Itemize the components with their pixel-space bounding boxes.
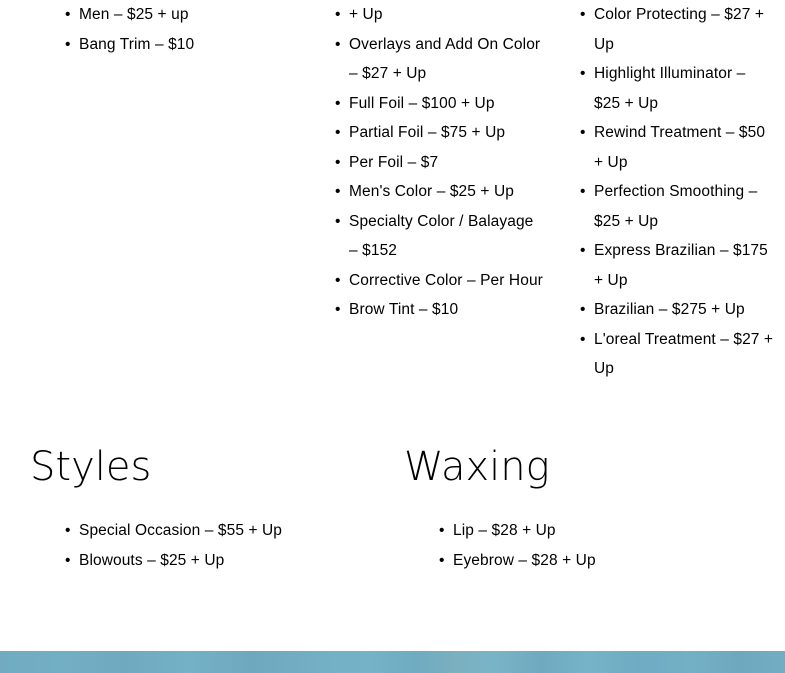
list-item: Rewind Treatment – $50 + Up	[580, 118, 775, 177]
list-item: Eyebrow – $28 + Up	[439, 546, 764, 576]
footer-decorative-band	[0, 651, 785, 673]
list-item: Specialty Color / Balayage – $152	[335, 207, 545, 266]
list-item: Blowouts – $25 + Up	[65, 546, 390, 576]
list-item: Full Foil – $100 + Up	[335, 89, 545, 119]
section-waxing: Waxing Lip – $28 + Up Eyebrow – $28 + Up	[404, 444, 764, 575]
page-root: Men – $25 + up Bang Trim – $10 + Up Over…	[0, 0, 785, 673]
service-list-right: Color Protecting – $27 + Up Highlight Il…	[545, 0, 775, 384]
styles-list: Special Occasion – $55 + Up Blowouts – $…	[30, 516, 390, 575]
list-item: Color Protecting – $27 + Up	[580, 0, 775, 59]
list-item: Overlays and Add On Color – $27 + Up	[335, 30, 545, 89]
list-item-continuation: + Up	[335, 0, 545, 30]
list-item: Men's Color – $25 + Up	[335, 177, 545, 207]
list-item: Express Brazilian – $175 + Up	[580, 236, 775, 295]
list-item: Special Occasion – $55 + Up	[65, 516, 390, 546]
services-columns: Men – $25 + up Bang Trim – $10 + Up Over…	[0, 0, 785, 420]
list-item: Brazilian – $275 + Up	[580, 295, 775, 325]
service-list-left: Men – $25 + up Bang Trim – $10	[30, 0, 300, 59]
list-item: Men – $25 + up	[65, 0, 300, 30]
services-column-right: Color Protecting – $27 + Up Highlight Il…	[545, 0, 775, 384]
section-styles: Styles Special Occasion – $55 + Up Blowo…	[30, 444, 390, 575]
services-column-left: Men – $25 + up Bang Trim – $10	[30, 0, 300, 59]
list-item: Per Foil – $7	[335, 148, 545, 178]
waxing-list: Lip – $28 + Up Eyebrow – $28 + Up	[404, 516, 764, 575]
list-item: Brow Tint – $10	[335, 295, 545, 325]
list-item: Partial Foil – $75 + Up	[335, 118, 545, 148]
list-item: Perfection Smoothing – $25 + Up	[580, 177, 775, 236]
list-item: Lip – $28 + Up	[439, 516, 764, 546]
list-item: Bang Trim – $10	[65, 30, 300, 60]
list-item: L'oreal Treatment – $27 + Up	[580, 325, 775, 384]
service-list-middle: + Up Overlays and Add On Color – $27 + U…	[300, 0, 545, 325]
section-title-waxing: Waxing	[404, 444, 764, 490]
section-title-styles: Styles	[30, 444, 390, 490]
list-item: Highlight Illuminator – $25 + Up	[580, 59, 775, 118]
services-column-middle: + Up Overlays and Add On Color – $27 + U…	[300, 0, 545, 325]
list-item: Corrective Color – Per Hour	[335, 266, 545, 296]
